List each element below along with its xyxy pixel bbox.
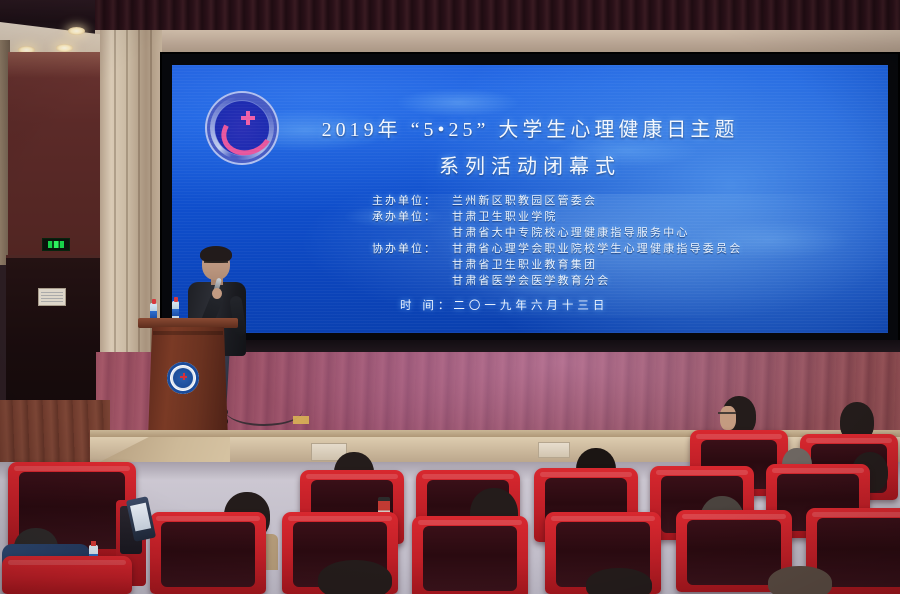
presentation-slide: 2019年 “5•25” 大学生心理健康日主题 系列活动闭幕式 主办单位： 兰州… <box>172 65 888 333</box>
led-screen-frame: 2019年 “5•25” 大学生心理健康日主题 系列活动闭幕式 主办单位： 兰州… <box>160 52 900 348</box>
medical-cross-icon <box>180 373 187 380</box>
presenter-glasses-icon <box>204 261 228 268</box>
audience-face <box>720 406 736 430</box>
floor-tape-marker <box>293 416 309 424</box>
wooden-podium <box>141 318 235 440</box>
floor-vent-grille <box>538 442 570 458</box>
podium-crest-emblem <box>167 362 199 394</box>
audience-head <box>768 566 832 594</box>
seat[interactable] <box>412 516 528 594</box>
seat[interactable] <box>2 556 132 594</box>
audience-head <box>586 568 652 594</box>
downlight-icon <box>56 44 73 52</box>
audience-head <box>318 560 392 594</box>
left-wall-panel <box>8 52 100 257</box>
eyeglasses-icon <box>718 412 736 414</box>
ceiling-soffit-band <box>95 30 900 54</box>
emergency-exit-sign <box>42 238 70 251</box>
auditorium-photo: 2019年 “5•25” 大学生心理健康日主题 系列活动闭幕式 主办单位： 兰州… <box>0 0 900 594</box>
side-doorway <box>6 255 102 420</box>
door-notice-sign <box>38 288 66 306</box>
seat[interactable] <box>150 512 266 594</box>
led-scanline-overlay <box>172 65 888 333</box>
downlight-icon <box>68 27 85 35</box>
presenter-hand <box>212 288 222 299</box>
podium-top <box>138 318 238 328</box>
